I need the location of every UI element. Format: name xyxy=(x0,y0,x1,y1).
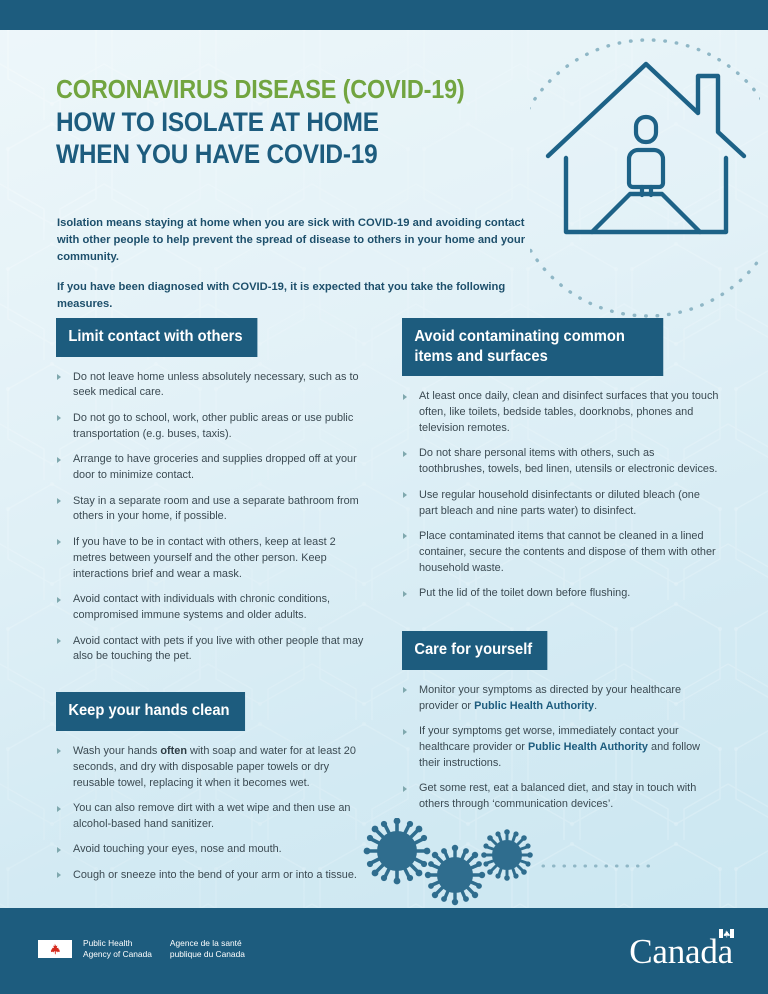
list-item: Do not share personal items with others,… xyxy=(402,446,720,478)
section-keep-hands-clean: Keep your hands clean Wash your hands of… xyxy=(56,692,368,883)
public-health-authority-link[interactable]: Public Health Authority xyxy=(528,741,648,753)
section-avoid-contaminating: Avoid contaminating common items and sur… xyxy=(402,318,720,602)
list-item: Stay in a separate room and use a separa… xyxy=(56,494,368,526)
list-item: Avoid contact with pets if you live with… xyxy=(56,634,368,666)
section-heading-limit-contact: Limit contact with others xyxy=(56,318,258,357)
intro-text: Isolation means staying at home when you… xyxy=(57,215,527,313)
right-column: Avoid contaminating common items and sur… xyxy=(402,318,720,823)
section-heading-avoid-contaminating: Avoid contaminating common items and sur… xyxy=(402,318,663,376)
canada-flag-icon xyxy=(38,940,72,958)
section-limit-contact: Limit contact with others Do not leave h… xyxy=(56,318,368,665)
title-line-2: HOW TO ISOLATE AT HOME xyxy=(56,107,488,137)
section-heading-care-for-yourself: Care for yourself xyxy=(402,631,547,670)
canada-flag-icon xyxy=(719,929,734,938)
section-care-for-yourself: Care for yourself Monitor your symptoms … xyxy=(402,631,720,813)
top-accent-bar xyxy=(0,0,768,30)
list-item: Get some rest, eat a balanced diet, and … xyxy=(402,781,720,813)
list-item: Use regular household disinfectants or d… xyxy=(402,488,720,520)
list-item: Avoid contact with individuals with chro… xyxy=(56,592,368,624)
page-title: CORONAVIRUS DISEASE (COVID-19) HOW TO IS… xyxy=(56,76,526,169)
left-column: Limit contact with others Do not leave h… xyxy=(56,318,368,893)
title-line-3: WHEN YOU HAVE COVID-19 xyxy=(56,139,488,169)
list-item: Avoid touching your eyes, nose and mouth… xyxy=(56,842,368,858)
list-item: Place contaminated items that cannot be … xyxy=(402,529,720,577)
list-item: You can also remove dirt with a wet wipe… xyxy=(56,801,368,833)
list-item: Put the lid of the toilet down before fl… xyxy=(402,586,720,602)
bullet-list-limit-contact: Do not leave home unless absolutely nece… xyxy=(56,370,368,666)
bullet-list-avoid-contaminating: At least once daily, clean and disinfect… xyxy=(402,389,720,602)
list-item: Do not go to school, work, other public … xyxy=(56,411,368,443)
agency-names: Public Health Agency of Canada Agence de… xyxy=(83,938,245,960)
list-item: At least once daily, clean and disinfect… xyxy=(402,389,720,437)
coronavirus-particles-icon xyxy=(355,818,655,908)
heading-line-1: Avoid contaminating common xyxy=(414,327,625,347)
list-item: Cough or sneeze into the bend of your ar… xyxy=(56,868,368,884)
list-item: Do not leave home unless absolutely nece… xyxy=(56,370,368,402)
public-health-authority-link[interactable]: Public Health Authority xyxy=(474,700,594,712)
intro-paragraph-2: If you have been diagnosed with COVID-19… xyxy=(57,279,527,313)
list-item: Wash your hands often with soap and wate… xyxy=(56,744,368,792)
footer-bar: Public Health Agency of Canada Agence de… xyxy=(0,908,768,994)
list-item: If your symptoms get worse, immediately … xyxy=(402,724,720,772)
title-line-1: CORONAVIRUS DISEASE (COVID-19) xyxy=(56,76,488,105)
list-item: If you have to be in contact with others… xyxy=(56,535,368,583)
house-with-person-icon xyxy=(530,28,760,318)
section-heading-keep-hands-clean: Keep your hands clean xyxy=(56,692,245,731)
bullet-list-keep-hands-clean: Wash your hands often with soap and wate… xyxy=(56,744,368,884)
intro-paragraph-1: Isolation means staying at home when you… xyxy=(57,215,527,266)
agency-name-fr: Agence de la santé publique du Canada xyxy=(170,938,245,960)
agency-name-en: Public Health Agency of Canada xyxy=(83,938,152,960)
infographic-page: CORONAVIRUS DISEASE (COVID-19) HOW TO IS… xyxy=(0,0,768,994)
list-item: Monitor your symptoms as directed by you… xyxy=(402,683,720,715)
bullet-list-care-for-yourself: Monitor your symptoms as directed by you… xyxy=(402,683,720,813)
list-item: Arrange to have groceries and supplies d… xyxy=(56,452,368,484)
canada-wordmark: Canada xyxy=(629,934,736,969)
agency-signature: Public Health Agency of Canada Agence de… xyxy=(38,938,245,960)
heading-line-2: items and surfaces xyxy=(414,347,625,367)
wordmark-text: Canada xyxy=(629,932,733,971)
